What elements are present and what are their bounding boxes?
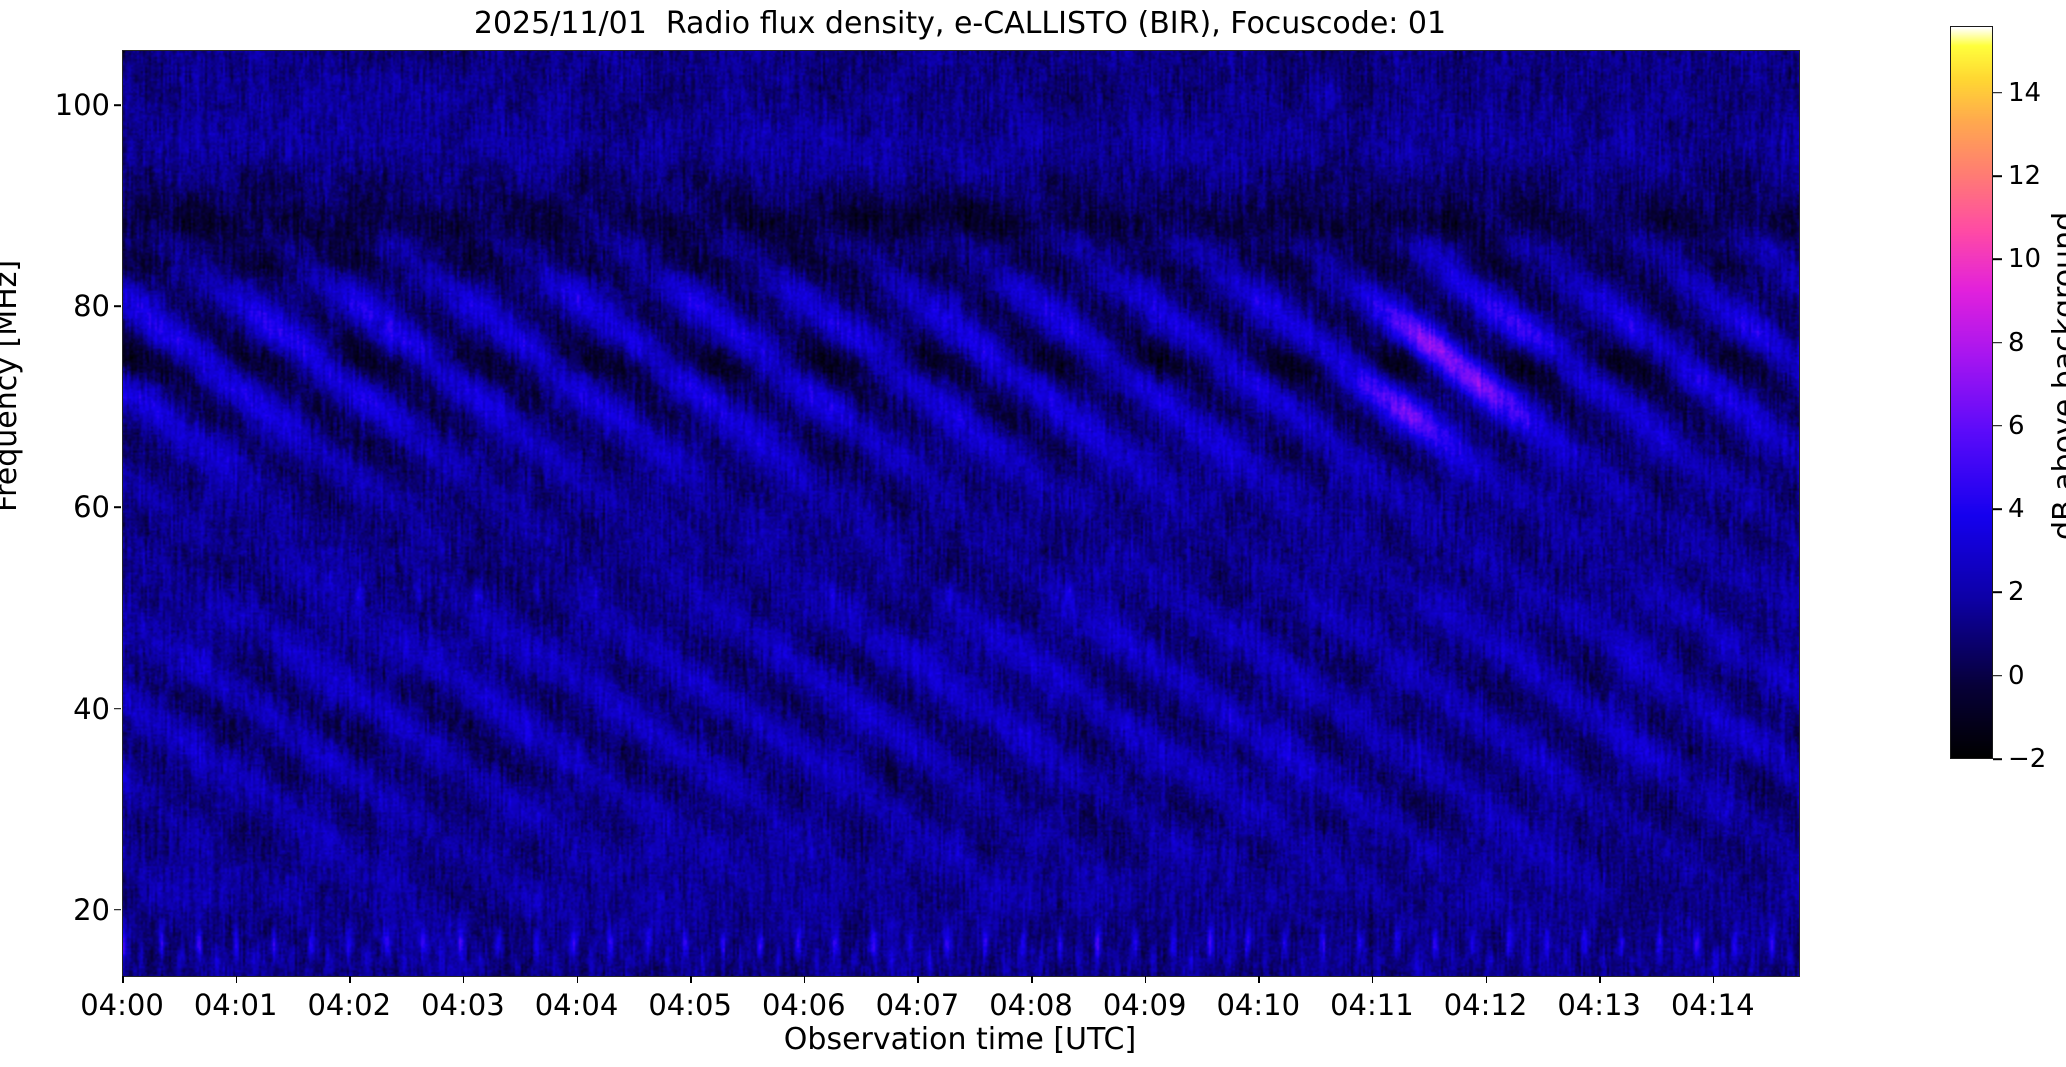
x-axis-tick-mark	[577, 976, 579, 983]
colorbar-tick-mark	[1993, 592, 2002, 594]
x-axis-tick-mark	[690, 976, 692, 983]
y-axis-tick-mark	[114, 909, 121, 911]
y-axis-label: Frequency [MHz]	[0, 260, 24, 512]
colorbar-tick-mark	[1993, 342, 2002, 344]
colorbar-tick-mark	[1993, 425, 2002, 427]
colorbar-tick-label: 14	[2008, 78, 2041, 108]
colorbar[interactable]	[1950, 26, 1993, 759]
x-axis-tick-mark	[1372, 976, 1374, 983]
colorbar-tick-mark	[1993, 508, 2002, 510]
y-axis-tick-mark	[114, 708, 121, 710]
x-axis-tick-mark	[1599, 976, 1601, 983]
page-title: 2025/11/01 Radio flux density, e-CALLIST…	[122, 2, 1798, 46]
spectrogram-axes[interactable]	[122, 50, 1800, 977]
spectrogram-image[interactable]	[123, 51, 1799, 976]
colorbar-tick-mark	[1993, 92, 2002, 94]
y-axis-tick-mark	[114, 507, 121, 509]
x-axis-tick-mark	[122, 976, 124, 983]
x-axis-tick-label: 04:14	[1603, 988, 1823, 1022]
colorbar-tick-label: 4	[2008, 494, 2025, 524]
y-axis-tick-label: 100	[0, 88, 110, 122]
colorbar-tick-label: 0	[2008, 661, 2025, 691]
colorbar-tick-mark	[1993, 675, 2002, 677]
colorbar-tick-label: 6	[2008, 411, 2025, 441]
x-axis-tick-mark	[463, 976, 465, 983]
x-axis-tick-mark	[804, 976, 806, 983]
x-axis-label: Observation time [UTC]	[122, 1022, 1798, 1057]
x-axis-tick-mark	[1145, 976, 1147, 983]
x-axis-tick-mark	[1031, 976, 1033, 983]
x-axis-tick-mark	[1713, 976, 1715, 983]
x-axis-tick-mark	[917, 976, 919, 983]
x-axis-tick-mark	[1486, 976, 1488, 983]
colorbar-tick-mark	[1993, 758, 2002, 760]
colorbar-label: dB above background	[2047, 212, 2066, 540]
y-axis-tick-label: 20	[0, 893, 110, 927]
colorbar-tick-label: −2	[2008, 744, 2046, 774]
colorbar-gradient[interactable]	[1950, 26, 1993, 759]
x-axis-tick-mark	[236, 976, 238, 983]
colorbar-tick-mark	[1993, 175, 2002, 177]
colorbar-tick-label: 12	[2008, 161, 2041, 191]
colorbar-tick-mark	[1993, 258, 2002, 260]
y-axis-tick-mark	[114, 105, 121, 107]
y-axis-tick-mark	[114, 306, 121, 308]
colorbar-tick-label: 8	[2008, 328, 2025, 358]
y-axis-tick-label: 40	[0, 692, 110, 726]
x-axis-tick-mark	[349, 976, 351, 983]
x-axis-tick-mark	[1258, 976, 1260, 983]
colorbar-tick-label: 10	[2008, 244, 2041, 274]
colorbar-tick-label: 2	[2008, 577, 2025, 607]
figure-canvas: 2025/11/01 Radio flux density, e-CALLIST…	[0, 0, 2066, 1067]
